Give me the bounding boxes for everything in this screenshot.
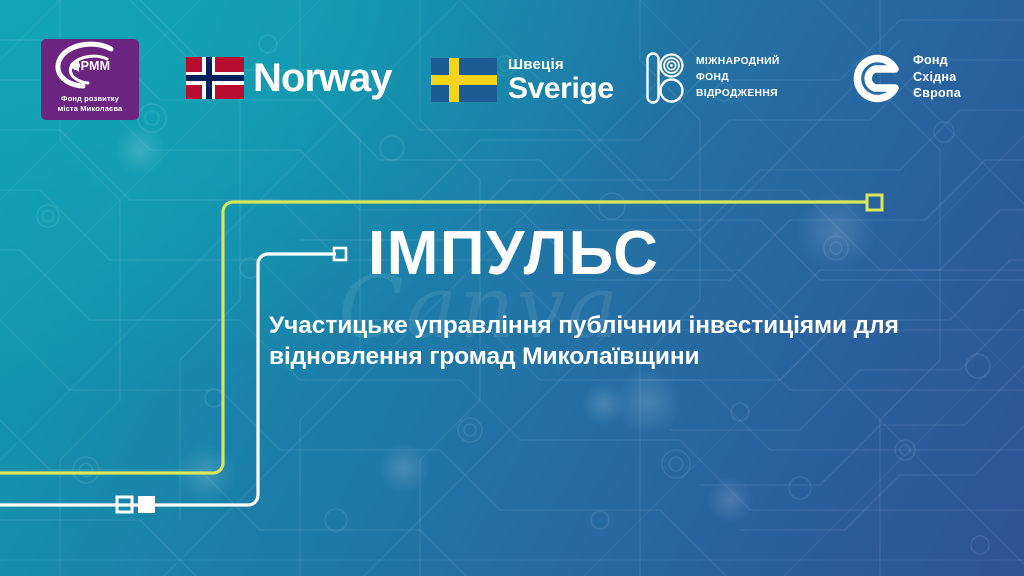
eef-e-mark-icon [849, 50, 901, 104]
norway-label: Norway [253, 57, 392, 99]
page-subtitle: Участицьке управління публічнии інвестиц… [269, 310, 981, 372]
eef-line1: Фонд [913, 52, 961, 69]
sweden-label-sv: Sverige [508, 73, 614, 104]
white-circuit-trace [0, 254, 336, 505]
sweden-label-uk: Швеція [508, 56, 614, 73]
frmm-caption: Фонд розвитку міста Миколаєва [41, 94, 139, 114]
frmm-acronym: ФРММ [41, 59, 139, 73]
logo-eef[interactable]: Фонд Східна Європа [849, 50, 961, 104]
irf-target-mark-icon [646, 52, 684, 104]
norway-flag-icon [186, 57, 244, 99]
slide-canvas: Canva ФРММ Фонд розвитку міста Миколаєва [0, 0, 1024, 576]
eef-line3: Європа [913, 85, 961, 102]
partner-logo-bar: ФРММ Фонд розвитку міста Миколаєва Norwa… [0, 0, 1024, 140]
page-title: ІМПУЛЬС [368, 222, 659, 286]
eef-line2: Східна [913, 69, 961, 86]
irf-line2: ФОНД [696, 70, 780, 86]
white-square-node-filled [138, 496, 155, 513]
logo-irf[interactable]: МІЖНАРОДНИЙ ФОНД ВІДРОДЖЕННЯ [646, 52, 780, 104]
logo-sweden[interactable]: Швеція Sverige [431, 56, 614, 104]
frmm-caption-line1: Фонд розвитку [41, 94, 139, 104]
frmm-caption-line2: міста Миколаєва [41, 104, 139, 114]
sweden-flag-icon [431, 58, 497, 102]
logo-norway[interactable]: Norway [186, 57, 392, 99]
irf-line3: ВІДРОДЖЕННЯ [696, 86, 780, 102]
logo-frmm[interactable]: ФРММ Фонд розвитку міста Миколаєва [41, 39, 139, 120]
irf-line1: МІЖНАРОДНИЙ [696, 54, 780, 70]
yellow-square-terminal [867, 195, 882, 210]
white-square-node-outline [117, 497, 132, 512]
